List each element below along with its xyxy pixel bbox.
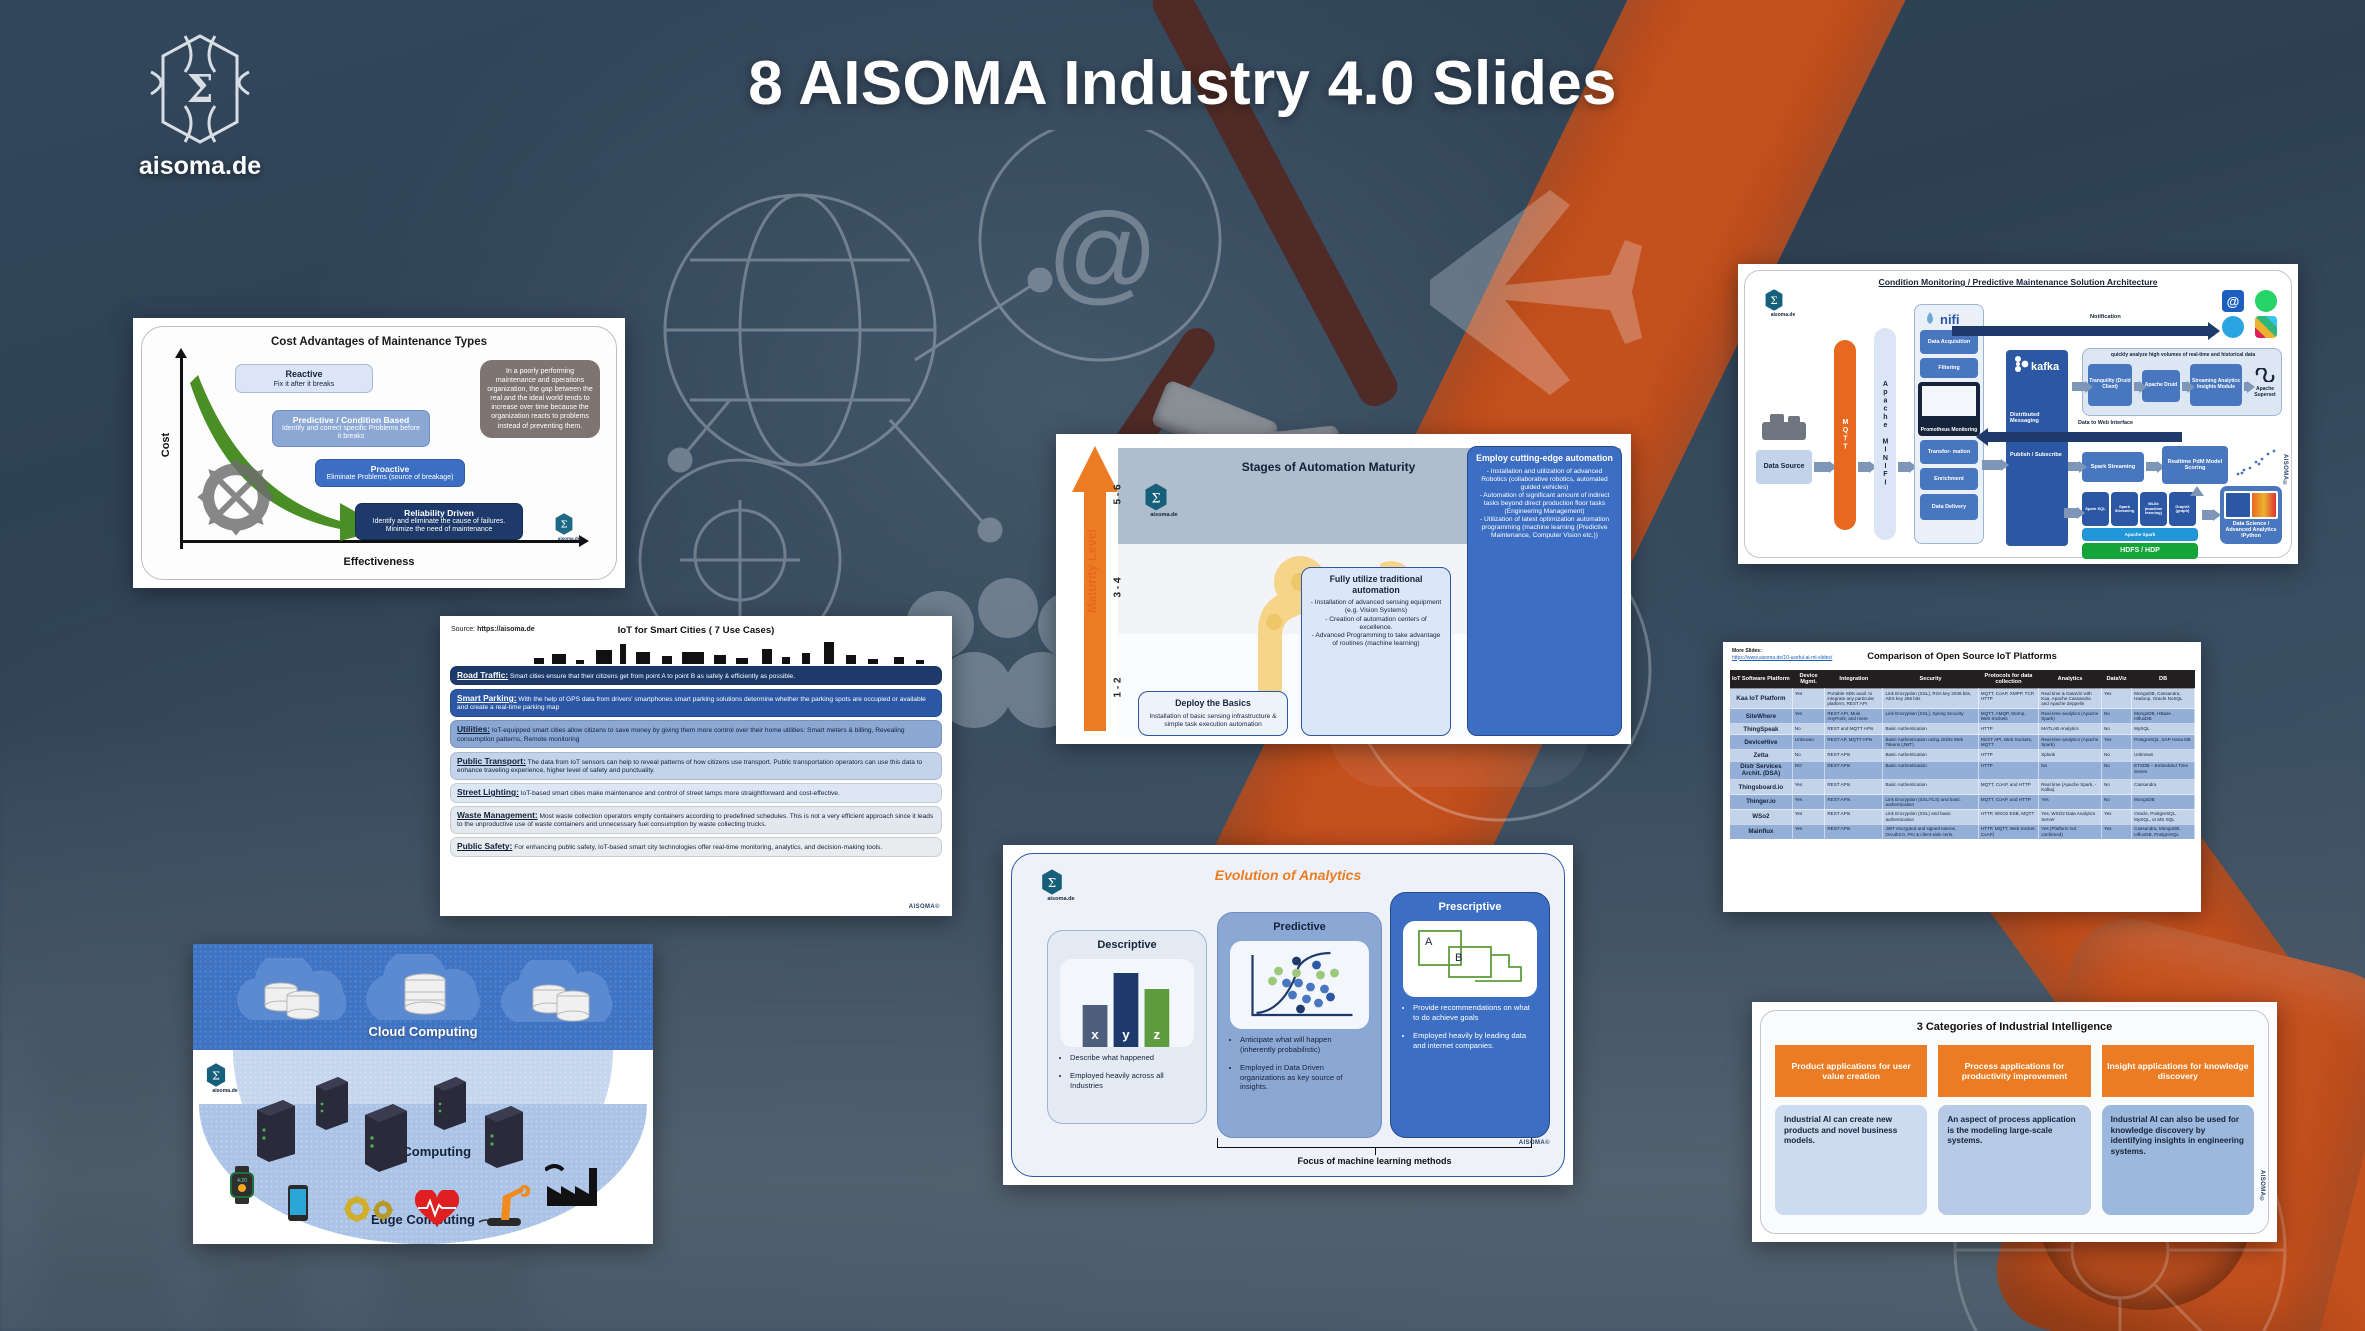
- use-case-key: Smart Parking:: [457, 693, 517, 703]
- category-insight-body: Industrial AI can also be used for knowl…: [2102, 1105, 2254, 1215]
- table-cell: No: [2039, 761, 2102, 780]
- table-row[interactable]: ZettaNoREST APIsBasic AuthenticationHTTP…: [1730, 750, 2195, 761]
- cell-platform-name: Thingsboard.io: [1730, 780, 1793, 795]
- table-cell: Basic Authentication: [1883, 761, 1978, 780]
- node-a-label: A: [1425, 936, 1433, 948]
- reliability-body: Identify and eliminate the cause of fail…: [373, 518, 506, 533]
- maintenance-type-predictive[interactable]: Predictive / Condition Based Identify an…: [272, 410, 430, 447]
- arrow-druid-streaming: [2182, 382, 2188, 391]
- server-rack-icon: [313, 1074, 351, 1130]
- table-row[interactable]: ThingSpeakNoREST and MQTT APIsBasic Auth…: [1730, 724, 2195, 735]
- table-cell: No: [2101, 795, 2131, 810]
- maturity-tick-5-6: 5 - 6: [1113, 484, 1124, 504]
- cell-platform-name: Mainflux: [1730, 824, 1793, 839]
- node-kafka[interactable]: [2006, 350, 2068, 546]
- web-interface-label: Data to Web Interface: [2078, 420, 2133, 426]
- slide7-watermark: AISOMA©: [1519, 1140, 1550, 1146]
- table-cell: Yes: [1792, 795, 1825, 810]
- use-case-text: For enhancing public safety, IoT-based s…: [512, 844, 882, 851]
- table-cell: Unknown: [2132, 750, 2195, 761]
- proactive-body: Eliminate Problems (source of breakage): [327, 474, 454, 481]
- table-cell: MATLAB Analytics: [2039, 724, 2102, 735]
- node-spark-streaming[interactable]: Spark Streaming: [2082, 452, 2144, 482]
- table-cell: Basic Authentication using JSON Web Toke…: [1883, 735, 1978, 750]
- table-row[interactable]: DeviceHiveUnknownREST AP, MQTT APIsBasic…: [1730, 735, 2195, 750]
- slide1-title: Cost Advantages of Maintenance Types: [142, 336, 616, 348]
- svg-text:x: x: [1091, 1027, 1099, 1042]
- table-cell: MongoDB, Cassandra, Hadoop, Oracle NoSQL: [2132, 689, 2195, 709]
- analytics-column-prescriptive[interactable]: Prescriptive A B Provide recommendations…: [1390, 892, 1550, 1138]
- cell-platform-name: Thinger.io: [1730, 795, 1793, 810]
- use-case-text: IoT-equipped smart cities allow citizens…: [457, 727, 905, 742]
- slide1-brand-name: aisoma.de: [552, 536, 586, 541]
- slide-automation-maturity[interactable]: Maturity Level 5 - 6 3 - 4 1 - 2 Stages …: [1056, 434, 1631, 744]
- table-cell: MQTT, CoAP, and HTTP: [1978, 795, 2038, 810]
- table-cell: Link Encryption (SSL/TLS) and basic auth…: [1883, 795, 1978, 810]
- use-case-key: Public Transport:: [457, 756, 526, 766]
- server-rack-icon: [253, 1096, 299, 1162]
- table-cell: Yes: [1792, 780, 1825, 795]
- data-science-label: Data Science / Advanced Analytics IPytho…: [2220, 521, 2282, 539]
- arrow-nifi-kafka: [1982, 460, 2002, 470]
- stage1-heading: Deploy the Basics: [1146, 698, 1280, 709]
- node-promotheus-monitoring[interactable]: Promotheus Monitoring: [1918, 382, 1980, 436]
- slide2-title: IoT for Smart Cities ( 7 Use Cases): [440, 625, 952, 636]
- node-enrichment[interactable]: Enrichment: [1920, 468, 1978, 490]
- table-cell: Link Encryption (SSL), Spring Security: [1883, 709, 1978, 724]
- machine-icon: [1758, 410, 1810, 444]
- arrow-kafka-spark: [2068, 462, 2080, 471]
- svg-text:Σ: Σ: [212, 1070, 220, 1083]
- use-case-street-lighting[interactable]: Street Lighting: IoT-based smart cities …: [450, 783, 942, 802]
- table-cell: Yes: [2101, 809, 2131, 824]
- slide-cloud-fog-edge-computing[interactable]: 4:20 Σ aisoma.de Cloud Comp: [193, 944, 653, 1244]
- table-row[interactable]: Kaa IoT PlatformYesPortable SDK avail. t…: [1730, 689, 2195, 709]
- col-platform: IoT Software Platform: [1730, 670, 1793, 689]
- category-product-body: Industrial AI can create new products an…: [1775, 1105, 1927, 1215]
- col-db: DB: [2132, 670, 2195, 689]
- table-cell: REST AP, MQTT APIs: [1825, 735, 1883, 750]
- slide5-title: Comparison of Open Source IoT Platforms: [1723, 650, 2201, 661]
- category-product-head: Product applications for user value crea…: [1775, 1045, 1927, 1097]
- predictive-bullet-2: Employed in Data Driven organizations as…: [1240, 1063, 1369, 1093]
- server-rack-icon: [361, 1100, 411, 1172]
- node-apache-minifi[interactable]: Apache MINIFI: [1874, 328, 1896, 540]
- slide-three-categories-industrial-intelligence[interactable]: 3 Categories of Industrial Intelligence …: [1752, 1002, 2277, 1242]
- node-data-science-ipython[interactable]: Data Science / Advanced Analytics IPytho…: [2220, 486, 2282, 544]
- slack-icon[interactable]: [2255, 316, 2277, 338]
- arrow-tranquility-druid: [2134, 382, 2140, 391]
- table-cell: REST API, Mule AnyPoint, and more: [1825, 709, 1883, 724]
- use-case-key: Road Traffic:: [457, 670, 508, 680]
- table-row[interactable]: WSo2YesREST APIsLink Encryption (SSL) an…: [1730, 809, 2195, 824]
- notification-channels: @: [2222, 290, 2284, 338]
- slide-condition-monitoring-architecture[interactable]: Condition Monitoring / Predictive Mainte…: [1738, 264, 2298, 564]
- slide7-title: Evolution of Analytics: [1012, 867, 1564, 883]
- table-cell: REST and MQTT APIs: [1825, 724, 1883, 735]
- slide-evolution-of-analytics[interactable]: Evolution of Analytics Σ aisoma.de Descr…: [1003, 845, 1573, 1185]
- svg-text:Σ: Σ: [561, 520, 568, 531]
- maturity-tick-1-2: 1 - 2: [1113, 677, 1124, 697]
- use-case-key: Utilities:: [457, 724, 490, 734]
- slide6-title: 3 Categories of Industrial Intelligence: [1775, 1021, 2254, 1033]
- node-mqtt[interactable]: MQTT: [1834, 340, 1856, 530]
- table-cell: Cassandra, MongoDB, InfluxDB, PostgreSQL: [2132, 824, 2195, 839]
- heatmap-thumb: [2252, 493, 2276, 517]
- col-protocols: Protocols for data collection: [1978, 670, 2038, 689]
- category-process[interactable]: Process applications for productivity im…: [1938, 1045, 2090, 1215]
- y-axis: [180, 357, 183, 549]
- table-cell: Splunk: [2039, 750, 2102, 761]
- arrow-notification: [1952, 326, 2214, 336]
- server-rack-icon: [481, 1102, 527, 1168]
- maintenance-type-proactive[interactable]: Proactive Eliminate Problems (source of …: [315, 459, 465, 487]
- maturity-axis-label: Maturity Level: [1085, 529, 1099, 613]
- use-case-utilities[interactable]: Utilities: IoT-equipped smart cities all…: [450, 720, 942, 748]
- svg-text:y: y: [1122, 1027, 1130, 1042]
- descriptive-bullet-2: Employed heavily across all Industries: [1070, 1071, 1194, 1091]
- table-body: Kaa IoT PlatformYesPortable SDK avail. t…: [1730, 689, 2195, 840]
- table-cell: No: [2101, 780, 2131, 795]
- scatter-trend-icon: [2232, 446, 2280, 480]
- y-axis-label: Cost: [160, 433, 172, 457]
- table-cell: MQTT, CoAP, and HTTP: [1978, 780, 2038, 795]
- prescriptive-bullet-1: Provide recommendations on what to do ac…: [1413, 1003, 1537, 1023]
- table-cell: Yes: [1792, 809, 1825, 824]
- predictive-body: Identify and correct specific Problems b…: [282, 425, 420, 440]
- slide8-brand-name: aisoma.de: [203, 1088, 247, 1094]
- proactive-heading: Proactive: [323, 464, 457, 474]
- gears-icon: [341, 1192, 399, 1226]
- aisoma-hexagon-sigma-logo: Σ: [1038, 868, 1066, 896]
- node-realtime-pdm-model-scoring[interactable]: Realtime PdM Model Scoring: [2162, 446, 2228, 484]
- slide3-brand-name: aisoma.de: [1141, 512, 1187, 518]
- slide-iot-platform-comparison[interactable]: More Slides: https://www.aisoma.de/10-us…: [1723, 642, 2201, 912]
- slide7-brand-name: aisoma.de: [1038, 896, 1084, 902]
- cell-platform-name: Distr Services Archit. (DSA): [1730, 761, 1793, 780]
- table-cell: Yes: [2039, 795, 2102, 810]
- category-insight-head: Insight applications for knowledge disco…: [2102, 1045, 2254, 1097]
- predictive-heading: Predictive / Condition Based: [280, 415, 422, 425]
- arrow-kafka-sparkstack: [2064, 508, 2078, 518]
- svg-text:@: @: [1047, 191, 1159, 314]
- email-icon[interactable]: @: [2222, 290, 2244, 312]
- category-process-head: Process applications for productivity im…: [1938, 1045, 2090, 1097]
- table-cell: Link Encryption (SSL) and basic authenti…: [1883, 809, 1978, 824]
- table-cell: No: [1792, 750, 1825, 761]
- arrow-datasource-mqtt: [1814, 462, 1830, 472]
- table-cell: Portable SDK avail. to integrate any par…: [1825, 689, 1883, 709]
- use-case-public-safety[interactable]: Public Safety: For enhancing public safe…: [450, 837, 942, 856]
- svg-text:Σ: Σ: [1151, 491, 1160, 506]
- airplane-graphic: [1280, 60, 1760, 480]
- table-cell: MongoDB: [2132, 795, 2195, 810]
- node-data-source[interactable]: Data Source: [1756, 450, 1812, 484]
- svg-text:Σ: Σ: [1048, 876, 1056, 890]
- slide2-watermark: AISOMA©: [909, 904, 940, 910]
- svg-text:kafka: kafka: [2031, 361, 2060, 373]
- factory-icon: [545, 1164, 597, 1206]
- predictive-bullet-1: Anticipate what will happen (inherently …: [1240, 1035, 1369, 1055]
- table-cell: REST APIs: [1825, 809, 1883, 824]
- use-case-waste-management[interactable]: Waste Management: Most waste collection …: [450, 806, 942, 834]
- arrow-sparkstack-datascience: [2202, 510, 2214, 520]
- node-apache-druid[interactable]: Apache Druid: [2142, 370, 2180, 402]
- analytics-column-predictive[interactable]: Predictive: [1217, 912, 1382, 1138]
- category-process-body: An aspect of process application is the …: [1938, 1105, 2090, 1215]
- notification-label: Notification: [2090, 314, 2121, 320]
- prescriptive-bullet-2: Employed heavily by leading data and int…: [1413, 1031, 1537, 1051]
- cell-platform-name: Zetta: [1730, 750, 1793, 761]
- table-cell: HTTP: [1978, 761, 2038, 780]
- table-cell: REST API, Web Sockets, MQTT: [1978, 735, 2038, 750]
- kafka-publish-subscribe: Publish / Subscribe: [2010, 452, 2064, 458]
- smartphone-icon: [287, 1184, 309, 1222]
- node-graphx[interactable]: GraphX (graph): [2169, 492, 2196, 526]
- col-integration: Integration: [1825, 670, 1883, 689]
- node-spark-sql[interactable]: Spark SQL: [2082, 492, 2109, 526]
- promotheus-label: Promotheus Monitoring: [1919, 428, 1979, 434]
- svg-text:nifi: nifi: [1940, 312, 1960, 327]
- table-cell: Yes: [1792, 824, 1825, 839]
- table-cell: JWT encrypted and signed tokens, OAuth2.…: [1883, 824, 1978, 839]
- table-cell: No: [2101, 750, 2131, 761]
- slide7-footer: Focus of machine learning methods: [1217, 1156, 1532, 1166]
- table-cell: Yes (Platform not confirmed): [2039, 824, 2102, 839]
- slide3-brand-logo: Σ aisoma.de: [1141, 482, 1187, 518]
- arrow-minifi-nifi: [1898, 462, 1910, 472]
- node-hdfs-hdp[interactable]: HDFS / HDP: [2082, 543, 2198, 559]
- reactive-body: Fix it after it breaks: [274, 379, 335, 388]
- col-device-mgmt: Device Mgmt.: [1792, 670, 1825, 689]
- table-row[interactable]: Thingsboard.ioYesREST APIsBasic Authenti…: [1730, 780, 2195, 795]
- table-cell: Oracle, PostgreSQL, MySQL, or MS SQL: [2132, 809, 2195, 824]
- slide-iot-smart-cities[interactable]: Source: https://aisoma.de IoT for Smart …: [440, 616, 952, 916]
- slide4-title: Condition Monitoring / Predictive Mainte…: [1738, 277, 2298, 287]
- node-spark-streaming-module[interactable]: Spark Streaming: [2111, 492, 2138, 526]
- stage-fully-utilize-traditional-automation[interactable]: Fully utilize traditional automation - I…: [1301, 567, 1451, 736]
- cell-platform-name: DeviceHive: [1730, 735, 1793, 750]
- stage2-body: - Installation of advanced sensing equip…: [1311, 599, 1442, 646]
- node-mllib[interactable]: MLlib (machine learning): [2140, 492, 2167, 526]
- cloud-database-icon: [229, 958, 365, 1032]
- table-cell: No: [1792, 724, 1825, 735]
- gear-wrench-screwdriver-icon: [194, 455, 278, 539]
- predictive-heading: Predictive: [1218, 913, 1381, 937]
- aisoma-hexagon-sigma-logo: Σ: [552, 512, 576, 536]
- maintenance-type-reliability-driven[interactable]: Reliability Driven Identify and eliminat…: [355, 503, 523, 540]
- aisoma-hexagon-sigma-logo: Σ: [203, 1062, 229, 1088]
- focus-brace: [1217, 1138, 1532, 1148]
- arrowhead-web-interface: [1976, 428, 1988, 446]
- brand-name: aisoma.de: [105, 152, 295, 181]
- aisoma-hexagon-sigma-logo: Σ: [1141, 482, 1171, 512]
- table-row[interactable]: SiteWhereYesREST API, Mule AnyPoint, and…: [1730, 709, 2195, 724]
- table-cell: No: [2101, 709, 2131, 724]
- use-case-text: Smart cities ensure that their citizens …: [508, 673, 795, 680]
- node-b-label: B: [1455, 952, 1462, 964]
- table-cell: HTTP, MQTT, Web Socket, CoAP): [1978, 824, 2038, 839]
- use-case-text: IoT-based smart cities make maintenance …: [519, 790, 840, 797]
- spark-stack: Spark SQL Spark Streaming MLlib (machine…: [2082, 492, 2198, 559]
- svg-text:4:20: 4:20: [237, 1178, 247, 1184]
- table-cell: Link Encryption (SSL), RSA key 2048 bits…: [1883, 689, 1978, 709]
- table-cell: Yes: [2101, 824, 2131, 839]
- smartwatch-icon: 4:20: [227, 1166, 257, 1204]
- table-cell: REST APIs: [1825, 780, 1883, 795]
- table-row[interactable]: Thinger.ioYesREST APIsLink Encryption (S…: [1730, 795, 2195, 810]
- table-cell: Real-time analytics (Apache Spark): [2039, 709, 2102, 724]
- maturity-tick-3-4: 3 - 4: [1113, 577, 1124, 597]
- server-rack-icon: [431, 1074, 469, 1130]
- reliability-heading: Reliability Driven: [363, 508, 515, 518]
- table-cell: Basic Authentication: [1883, 780, 1978, 795]
- table-cell: Real time & DataViz with Kaa, Apache Cas…: [2039, 689, 2102, 709]
- table-cell: Basic Authentication: [1883, 750, 1978, 761]
- arrowhead-notification: [2208, 322, 2220, 340]
- table-cell: Yes: [1792, 689, 1825, 709]
- col-security: Security: [1883, 670, 1978, 689]
- table-header-row: IoT Software Platform Device Mgmt. Integ…: [1730, 670, 2195, 689]
- table-cell: MongoDB, HBase , InfluxDB: [2132, 709, 2195, 724]
- table-cell: HTTP: [1978, 724, 2038, 735]
- cell-platform-name: Kaa IoT Platform: [1730, 689, 1793, 709]
- stage-employ-cutting-edge-automation[interactable]: Employ cutting-edge automation - Install…: [1467, 446, 1622, 736]
- col-dataviz: DataViz: [2101, 670, 2131, 689]
- table-cell: MQTT, AMQP, Stomp, Web Sockets: [1978, 709, 2038, 724]
- stage3-heading: Employ cutting-edge automation: [1475, 453, 1614, 464]
- arrow-kafka-druid: [2072, 382, 2086, 391]
- aisoma-hexagon-sigma-logo: Σ: [1762, 288, 1786, 312]
- analytics-band-caption: quickly analyze high volumes of real-tim…: [2088, 352, 2278, 358]
- arrow-streaming-superset: [2244, 382, 2248, 391]
- maintenance-type-reactive[interactable]: Reactive Fix it after it breaks: [235, 364, 373, 393]
- slide3-title: Stages of Automation Maturity: [1206, 460, 1451, 474]
- node-streaming-analytics-insights-module[interactable]: Streaming Analytics Insights Module: [2190, 364, 2242, 406]
- table-cell: NO: [1792, 761, 1825, 780]
- table-cell: Basic Authentication: [1883, 724, 1978, 735]
- table-row[interactable]: Distr Services Archit. (DSA)NOREST APIsB…: [1730, 761, 2195, 780]
- table-cell: Cassandra: [2132, 780, 2195, 795]
- use-case-smart-parking[interactable]: Smart Parking: With the help of GPS data…: [450, 689, 942, 717]
- svg-text:Σ: Σ: [1770, 296, 1777, 307]
- table-cell: REST APIs: [1825, 824, 1883, 839]
- waveform-thumb: [2226, 493, 2250, 517]
- table-cell: MySQL: [2132, 724, 2195, 735]
- stage3-body: - Installation and utilization of advanc…: [1480, 468, 1610, 539]
- use-case-road-traffic[interactable]: Road Traffic: Smart cities ensure that t…: [450, 666, 942, 685]
- table-cell: Yes, WSO2 Data Analytics Server: [2039, 809, 2102, 824]
- apache-nifi-drop-icon: nifi: [1922, 308, 1976, 328]
- whatsapp-icon[interactable]: [2255, 290, 2277, 312]
- slide8-brand-logo: Σ aisoma.de: [203, 1062, 247, 1094]
- table-cell: PostgreSQL ,SAP Hana DB: [2132, 735, 2195, 750]
- slide-cost-advantages-maintenance[interactable]: Cost Advantages of Maintenance Types Cos…: [133, 318, 625, 588]
- svg-text:z: z: [1154, 1027, 1161, 1042]
- node-transformation[interactable]: Transfor- mation: [1920, 440, 1978, 464]
- descriptive-heading: Descriptive: [1048, 931, 1206, 955]
- cell-platform-name: WSo2: [1730, 809, 1793, 824]
- page-title: 8 AISOMA Industry 4.0 Slides: [0, 48, 2365, 119]
- scatter-plot-regression-icon: [1230, 941, 1369, 1029]
- col-analytics: Analytics: [2039, 670, 2102, 689]
- table-cell: REST APIs: [1825, 750, 1883, 761]
- bar-chart-icon: x y z: [1060, 959, 1194, 1047]
- arrow-spark-pdm-up: [2190, 486, 2204, 496]
- table-cell: Real time (Apache Spark, -Kafka): [2039, 780, 2102, 795]
- table-cell: HTTP: [1978, 750, 2038, 761]
- prescriptive-heading: Prescriptive: [1391, 893, 1549, 917]
- heartbeat-icon: [413, 1190, 461, 1228]
- telegram-icon[interactable]: [2222, 316, 2244, 338]
- table-cell: No: [2101, 724, 2131, 735]
- use-case-key: Street Lighting:: [457, 787, 519, 797]
- cloud-database-icon: [493, 960, 633, 1034]
- x-axis-label: Effectiveness: [142, 556, 616, 568]
- stage1-body: Installation of basic sensing infrastruc…: [1149, 713, 1276, 728]
- apache-kafka-icon: kafka: [2012, 354, 2064, 374]
- slide1-note: In a poorly performing maintenance and o…: [480, 360, 600, 438]
- use-case-text: The data from IoT sensors can help to re…: [457, 759, 922, 774]
- node-data-delivery[interactable]: Data Delivery: [1920, 494, 1978, 520]
- node-filtering[interactable]: Filtering: [1920, 358, 1978, 378]
- cell-platform-name: ThingSpeak: [1730, 724, 1793, 735]
- slide1-brand-logo: Σ aisoma.de: [552, 512, 586, 541]
- cloud-database-icon: [355, 954, 497, 1032]
- descriptive-bullet-1: Describe what happened: [1070, 1053, 1194, 1063]
- kafka-distributed-messaging: Distributed Messaging: [2010, 412, 2064, 425]
- category-product[interactable]: Product applications for user value crea…: [1775, 1045, 1927, 1215]
- iot-platform-table: IoT Software Platform Device Mgmt. Integ…: [1729, 670, 2195, 840]
- table-cell: ETSDB – Embedded Time Series: [2132, 761, 2195, 780]
- table-cell: Yes: [2101, 735, 2131, 750]
- node-tranquility-druid-client[interactable]: Tranquility (Druid Client): [2088, 364, 2132, 406]
- use-case-public-transport[interactable]: Public Transport: The data from IoT sens…: [450, 752, 942, 780]
- arrow-web-interface: [1988, 432, 2182, 442]
- city-skyline-silhouette-icon: [520, 638, 940, 664]
- table-cell: REST APIs: [1825, 761, 1883, 780]
- table-cell: Real-time analytics (Apache Spark): [2039, 735, 2102, 750]
- table-cell: REST APIs: [1825, 795, 1883, 810]
- use-case-key: Public Safety:: [457, 841, 512, 851]
- node-apache-spark[interactable]: Apache Spark: [2082, 528, 2198, 541]
- slide6-watermark: AISOMA©: [2259, 1170, 2265, 1203]
- table-cell: Yes: [2101, 689, 2131, 709]
- decision-flow-ab-icon: A B: [1403, 921, 1537, 997]
- use-case-key: Waste Management:: [457, 810, 538, 820]
- table-cell: Unknown: [1792, 735, 1825, 750]
- table-cell: HTTP, WSO2 ESB, MQTT: [1978, 809, 2038, 824]
- robot-arm-icon: [477, 1182, 531, 1228]
- stage-deploy-the-basics[interactable]: Deploy the Basics Installation of basic …: [1138, 691, 1288, 736]
- slide4-watermark: AISOMA©: [2282, 454, 2288, 487]
- use-case-list: Road Traffic: Smart cities ensure that t…: [450, 666, 942, 860]
- cell-platform-name: SiteWhere: [1730, 709, 1793, 724]
- slide7-brand-logo: Σ aisoma.de: [1038, 868, 1084, 902]
- use-case-text: With the help of GPS data from drivers' …: [457, 696, 926, 711]
- category-insight[interactable]: Insight applications for knowledge disco…: [2102, 1045, 2254, 1215]
- table-cell: No: [2101, 761, 2131, 780]
- slide4-brand-logo: Σ aisoma.de: [1762, 288, 1804, 318]
- slide4-brand-name: aisoma.de: [1762, 312, 1804, 318]
- arrow-spark-pdm: [2146, 462, 2158, 471]
- table-row[interactable]: MainfluxYesREST APIsJWT encrypted and si…: [1730, 824, 2195, 839]
- arrow-mqtt-minifi: [1858, 462, 1870, 472]
- analytics-column-descriptive[interactable]: Descriptive x y z Describe what happened…: [1047, 930, 1207, 1124]
- table-cell: MQTT, CoAP, XMPP, TCP, HTTP: [1978, 689, 2038, 709]
- stage2-heading: Fully utilize traditional automation: [1309, 574, 1443, 595]
- table-cell: Yes: [1792, 709, 1825, 724]
